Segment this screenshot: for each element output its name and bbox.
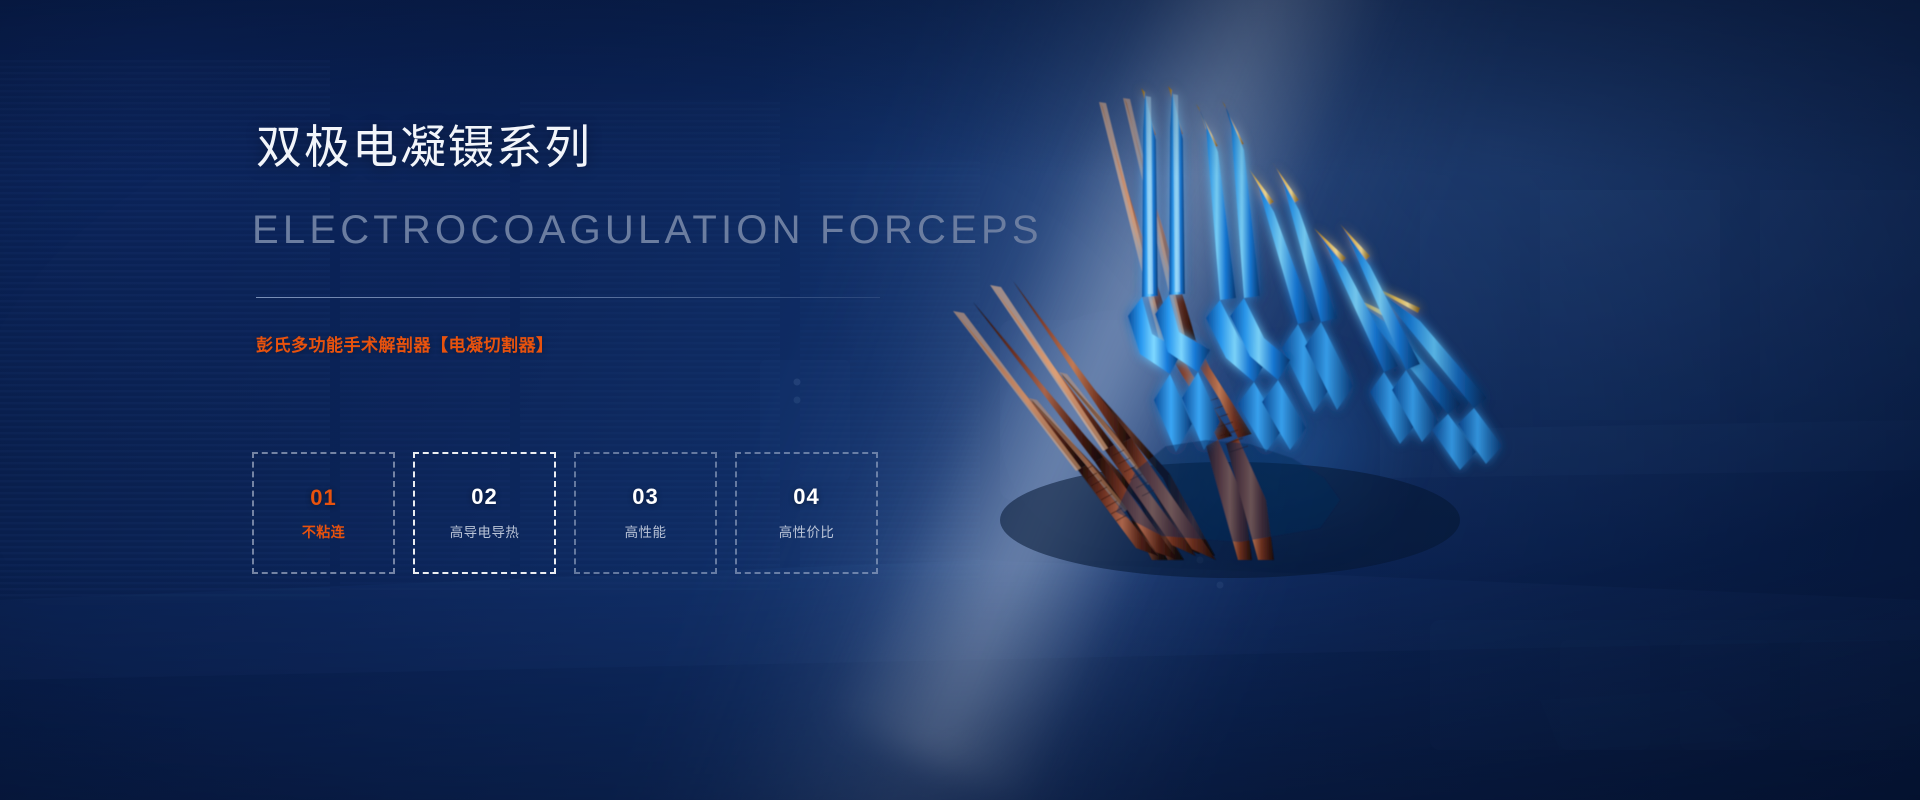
feature-box-list: 01 不粘连 02 高导电导热 03 高性能 04 高性价比 [252,452,878,574]
feature-box-01[interactable]: 01 不粘连 [252,452,395,574]
page-title-chinese: 双极电凝镊系列 [256,124,592,170]
feature-label: 高导电导热 [450,526,520,540]
banner-content: 双极电凝镊系列 ELECTROCOAGULATION FORCEPS 彭氏多功能… [0,0,1920,800]
feature-box-04[interactable]: 04 高性价比 [735,452,878,574]
page-title-english: ELECTROCOAGULATION FORCEPS [252,210,1043,250]
banner-stage: 双极电凝镊系列 ELECTROCOAGULATION FORCEPS 彭氏多功能… [0,0,1920,800]
title-divider [256,297,880,298]
feature-label: 高性能 [625,526,667,540]
feature-number: 04 [793,486,819,508]
feature-number: 02 [471,486,497,508]
feature-number: 01 [310,487,336,509]
feature-label: 不粘连 [302,525,345,539]
feature-label: 高性价比 [779,526,835,540]
feature-number: 03 [632,486,658,508]
product-subtitle: 彭氏多功能手术解剖器【电凝切割器】 [256,336,554,356]
feature-box-03[interactable]: 03 高性能 [574,452,717,574]
feature-box-02[interactable]: 02 高导电导热 [413,452,556,574]
